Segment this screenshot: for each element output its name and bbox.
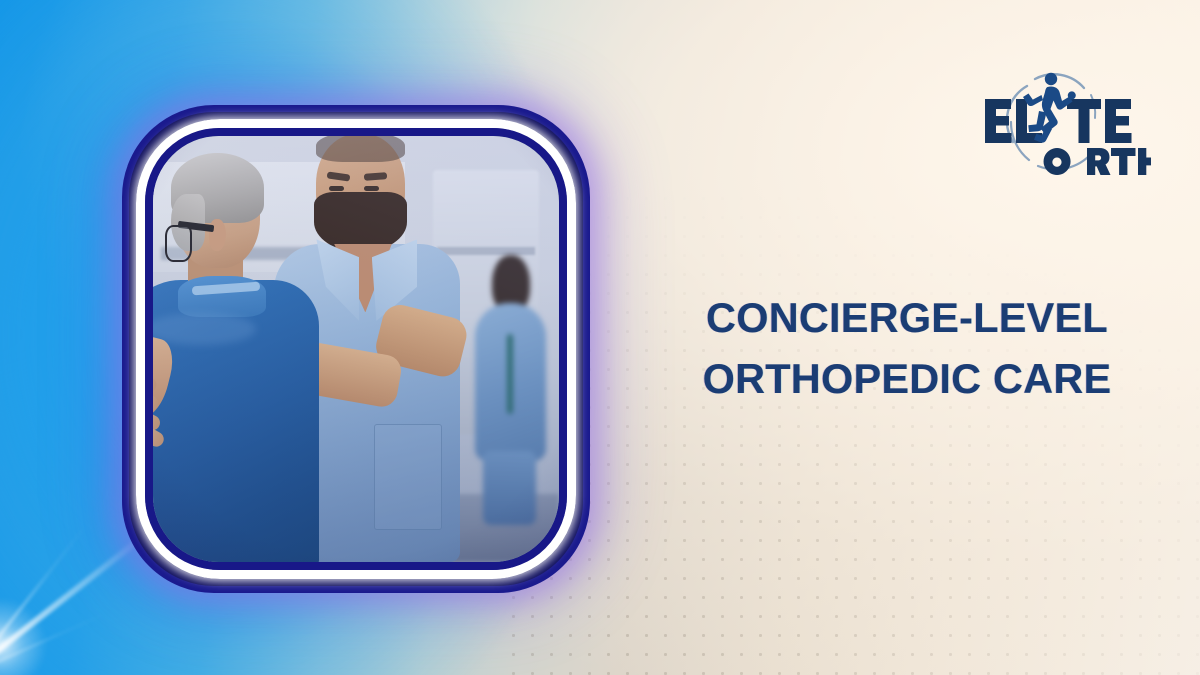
headline-line-2: ORTHOPEDIC CARE xyxy=(651,349,1163,410)
patient-figure xyxy=(153,157,332,562)
background-dot-pattern xyxy=(504,189,1200,675)
clinician-eye-right xyxy=(364,186,379,191)
clinic-photo xyxy=(153,136,559,562)
logo-wordmark-ortho xyxy=(1044,148,1151,175)
photo-frame xyxy=(122,105,590,593)
headline-line-1: CONCIERGE-LEVEL xyxy=(651,288,1163,349)
patient-glasses-lens xyxy=(165,225,192,262)
promo-banner: CONCIERGE-LEVEL ORTHOPEDIC CARE xyxy=(0,0,1200,675)
clinician-brow-right xyxy=(364,172,387,180)
headline: CONCIERGE-LEVEL ORTHOPEDIC CARE xyxy=(651,288,1163,409)
brand-logo[interactable] xyxy=(983,56,1151,182)
clinician-scrubs-pocket xyxy=(374,424,441,529)
photo-scene xyxy=(153,136,559,562)
